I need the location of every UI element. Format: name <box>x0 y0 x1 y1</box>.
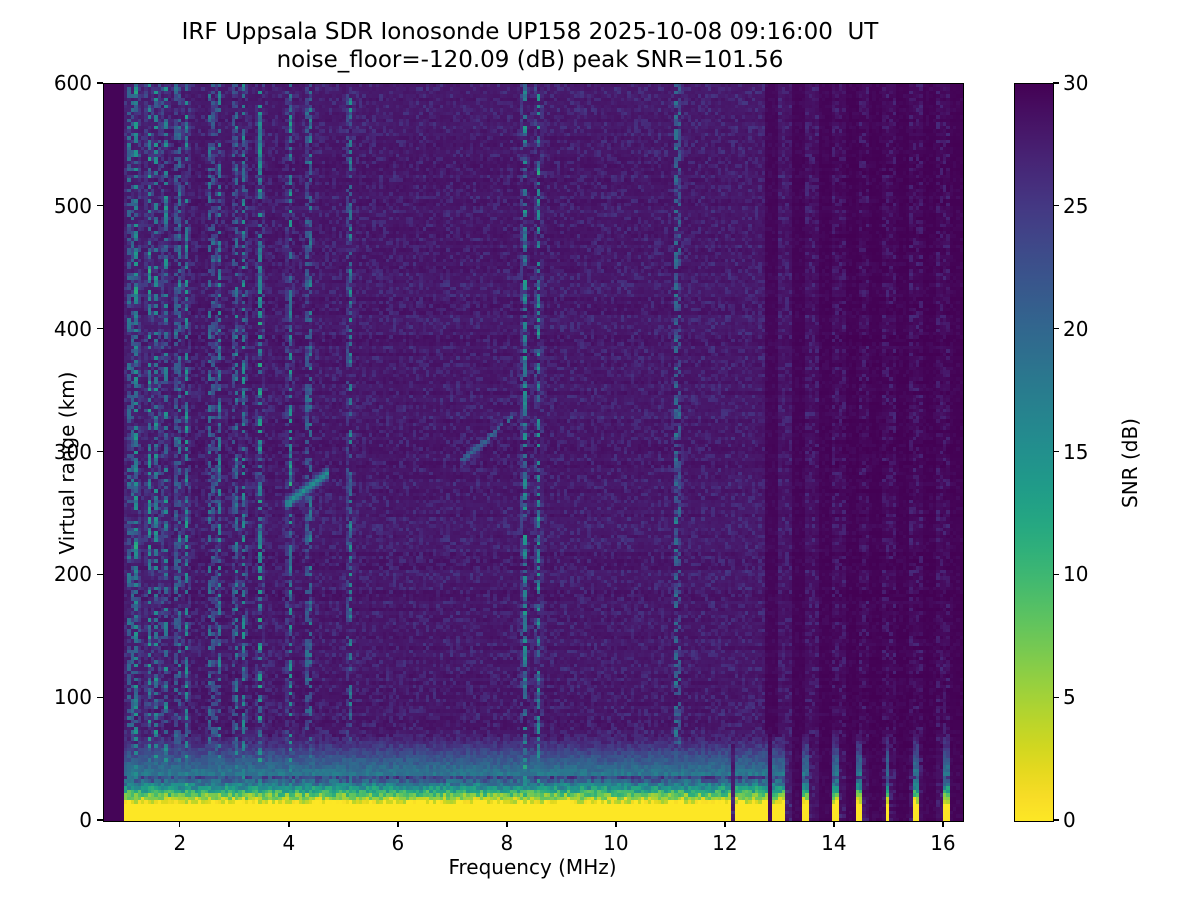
y-tick-label: 300 <box>54 440 92 464</box>
title-line-1: IRF Uppsala SDR Ionosonde UP158 2025-10-… <box>0 18 1060 46</box>
y-tick-label: 100 <box>54 685 92 709</box>
colorbar-tick-label: 0 <box>1063 808 1076 832</box>
ionogram-figure: IRF Uppsala SDR Ionosonde UP158 2025-10-… <box>0 0 1200 900</box>
colorbar-tick-mark <box>1053 205 1059 206</box>
colorbar-tick-mark <box>1053 451 1059 452</box>
x-tick-mark <box>942 821 943 827</box>
x-tick-mark <box>724 821 725 827</box>
colorbar-tick-label: 15 <box>1063 440 1088 464</box>
y-tick-label: 500 <box>54 194 92 218</box>
y-tick-mark <box>97 82 103 83</box>
colorbar-tick-label: 30 <box>1063 71 1088 95</box>
colorbar-tick-mark <box>1053 82 1059 83</box>
x-tick-label: 14 <box>821 831 846 855</box>
y-tick-label: 600 <box>54 71 92 95</box>
plot-area <box>103 83 964 822</box>
colorbar-tick-label: 25 <box>1063 194 1088 218</box>
x-tick-mark <box>506 821 507 827</box>
x-tick-mark <box>615 821 616 827</box>
colorbar-tick-label: 10 <box>1063 562 1088 586</box>
x-tick-label: 10 <box>603 831 628 855</box>
ionogram-heatmap <box>104 84 963 821</box>
x-tick-label: 16 <box>930 831 955 855</box>
title-line-2: noise_floor=-120.09 (dB) peak SNR=101.56 <box>0 46 1060 74</box>
y-tick-mark <box>97 574 103 575</box>
colorbar-tick-label: 20 <box>1063 317 1088 341</box>
colorbar-gradient <box>1015 84 1053 821</box>
x-tick-mark <box>397 821 398 827</box>
x-tick-label: 12 <box>712 831 737 855</box>
y-tick-mark <box>97 451 103 452</box>
y-tick-label: 0 <box>79 808 92 832</box>
colorbar-tick-mark <box>1053 697 1059 698</box>
x-axis-label: Frequency (MHz) <box>103 855 962 879</box>
y-tick-mark <box>97 328 103 329</box>
colorbar <box>1014 83 1054 822</box>
y-tick-mark <box>97 205 103 206</box>
colorbar-tick-mark <box>1053 328 1059 329</box>
figure-title: IRF Uppsala SDR Ionosonde UP158 2025-10-… <box>0 18 1060 74</box>
y-tick-label: 400 <box>54 317 92 341</box>
x-tick-label: 2 <box>173 831 186 855</box>
y-tick-mark <box>97 819 103 820</box>
colorbar-label: SNR (dB) <box>1118 343 1142 583</box>
x-tick-mark <box>833 821 834 827</box>
y-tick-label: 200 <box>54 562 92 586</box>
x-tick-label: 6 <box>391 831 404 855</box>
x-tick-mark <box>179 821 180 827</box>
colorbar-tick-mark <box>1053 819 1059 820</box>
x-tick-label: 4 <box>282 831 295 855</box>
x-tick-mark <box>288 821 289 827</box>
colorbar-tick-label: 5 <box>1063 685 1076 709</box>
x-tick-label: 8 <box>501 831 514 855</box>
colorbar-tick-mark <box>1053 574 1059 575</box>
y-tick-mark <box>97 697 103 698</box>
